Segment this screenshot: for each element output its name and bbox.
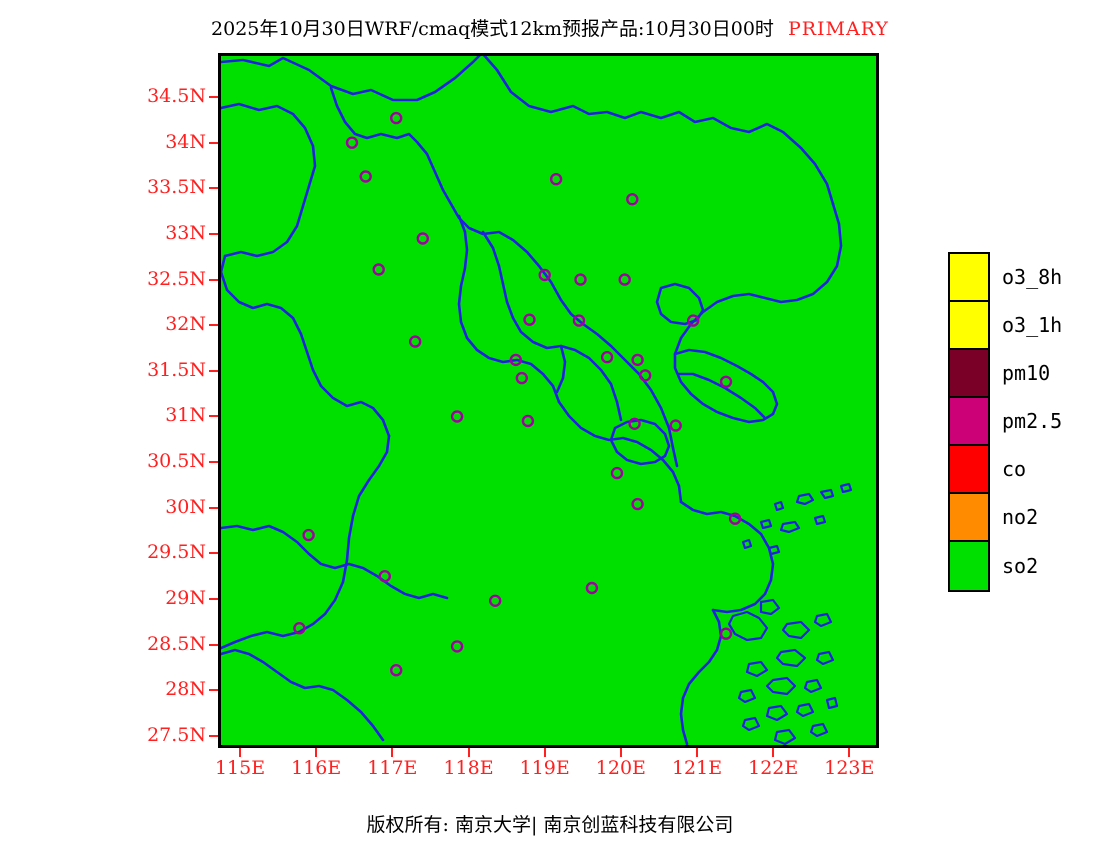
- legend-label: pm2.5: [1002, 409, 1062, 433]
- y-axis-tick: [209, 735, 218, 737]
- y-axis-label: 32N: [0, 313, 206, 335]
- station-marker[interactable]: [361, 172, 371, 182]
- y-axis-label: 32.5N: [0, 268, 206, 290]
- y-axis-label: 29.5N: [0, 541, 206, 563]
- x-axis-label: 118E: [443, 757, 493, 779]
- x-axis-label: 123E: [824, 757, 874, 779]
- station-marker[interactable]: [587, 583, 597, 593]
- station-marker[interactable]: [304, 530, 314, 540]
- y-axis-tick: [209, 461, 218, 463]
- x-axis-tick: [696, 748, 698, 757]
- y-axis-tick: [209, 279, 218, 281]
- station-marker[interactable]: [620, 275, 630, 285]
- legend-label: no2: [1002, 505, 1038, 529]
- y-axis-tick: [209, 233, 218, 235]
- station-marker[interactable]: [418, 234, 428, 244]
- station-markers: [294, 113, 740, 675]
- y-axis-tick: [209, 552, 218, 554]
- station-marker[interactable]: [640, 370, 650, 380]
- station-marker[interactable]: [391, 113, 401, 123]
- map-graphic: [221, 56, 876, 745]
- forecast-map-page: 2025年10月30日WRF/cmaq模式12km预报产品:10月30日00时P…: [0, 0, 1100, 850]
- legend-swatch-o3-1h[interactable]: o3_1h: [950, 302, 988, 350]
- page-title-primary-badge: PRIMARY: [788, 18, 889, 40]
- station-marker[interactable]: [347, 138, 357, 148]
- station-marker[interactable]: [410, 337, 420, 347]
- station-marker[interactable]: [523, 416, 533, 426]
- y-axis-tick: [209, 598, 218, 600]
- copyright-footer: 版权所有: 南京大学| 南京创蓝科技有限公司: [0, 810, 1100, 837]
- station-marker[interactable]: [633, 499, 643, 509]
- y-axis-label: 34.5N: [0, 85, 206, 107]
- legend-label: o3_8h: [1002, 265, 1062, 289]
- station-marker[interactable]: [525, 315, 535, 325]
- y-axis-label: 29N: [0, 587, 206, 609]
- y-axis-label: 33.5N: [0, 176, 206, 198]
- y-axis-tick: [209, 644, 218, 646]
- station-marker[interactable]: [551, 174, 561, 184]
- station-marker[interactable]: [452, 641, 462, 651]
- station-marker[interactable]: [602, 352, 612, 362]
- y-axis-label: 31N: [0, 404, 206, 426]
- legend-swatch-so2[interactable]: so2: [950, 542, 988, 590]
- y-axis-tick: [209, 415, 218, 417]
- x-axis-label: 119E: [520, 757, 570, 779]
- y-axis-tick: [209, 324, 218, 326]
- y-axis-tick: [209, 370, 218, 372]
- station-marker[interactable]: [633, 355, 643, 365]
- x-axis-label: 121E: [672, 757, 722, 779]
- legend-swatch-no2[interactable]: no2: [950, 494, 988, 542]
- y-axis-tick: [209, 507, 218, 509]
- x-axis-label: 120E: [596, 757, 646, 779]
- page-title-main: 2025年10月30日WRF/cmaq模式12km预报产品:10月30日00时: [211, 18, 774, 40]
- station-marker[interactable]: [490, 596, 500, 606]
- station-marker[interactable]: [721, 629, 731, 639]
- legend-swatch-pm2-5[interactable]: pm2.5: [950, 398, 988, 446]
- x-axis-tick: [848, 748, 850, 757]
- y-axis-tick: [209, 187, 218, 189]
- map-plot-area[interactable]: [218, 53, 879, 748]
- y-axis-label: 28.5N: [0, 633, 206, 655]
- x-axis-label: 117E: [367, 757, 417, 779]
- y-axis-tick: [209, 689, 218, 691]
- station-marker[interactable]: [517, 373, 527, 383]
- y-axis-label: 31.5N: [0, 359, 206, 381]
- x-axis-tick: [315, 748, 317, 757]
- y-axis-label: 28N: [0, 678, 206, 700]
- legend-label: pm10: [1002, 361, 1050, 385]
- page-title: 2025年10月30日WRF/cmaq模式12km预报产品:10月30日00时P…: [0, 14, 1100, 41]
- legend-swatch-co[interactable]: co: [950, 446, 988, 494]
- station-marker[interactable]: [391, 665, 401, 675]
- pollutant-legend: o3_8ho3_1hpm10pm2.5cono2so2: [948, 252, 990, 592]
- y-axis-label: 30.5N: [0, 450, 206, 472]
- y-axis-label: 33N: [0, 222, 206, 244]
- station-marker[interactable]: [374, 265, 384, 275]
- x-axis-tick: [620, 748, 622, 757]
- legend-label: co: [1002, 457, 1026, 481]
- x-axis-label: 122E: [748, 757, 798, 779]
- x-axis-tick: [239, 748, 241, 757]
- station-marker[interactable]: [380, 571, 390, 581]
- y-axis-label: 30N: [0, 496, 206, 518]
- y-axis-tick: [209, 142, 218, 144]
- station-marker[interactable]: [452, 412, 462, 422]
- station-marker[interactable]: [721, 377, 731, 387]
- x-axis-tick: [544, 748, 546, 757]
- station-marker[interactable]: [671, 421, 681, 431]
- x-axis-label: 116E: [291, 757, 341, 779]
- legend-label: o3_1h: [1002, 313, 1062, 337]
- legend-swatch-o3-8h[interactable]: o3_8h: [950, 254, 988, 302]
- station-marker[interactable]: [627, 194, 637, 204]
- station-marker[interactable]: [576, 275, 586, 285]
- x-axis-tick: [468, 748, 470, 757]
- x-axis-tick: [772, 748, 774, 757]
- y-axis-label: 27.5N: [0, 724, 206, 746]
- legend-label: so2: [1002, 554, 1038, 578]
- legend-swatch-pm10[interactable]: pm10: [950, 350, 988, 398]
- y-axis-label: 34N: [0, 131, 206, 153]
- y-axis-tick: [209, 96, 218, 98]
- x-axis-tick: [391, 748, 393, 757]
- x-axis-label: 115E: [215, 757, 265, 779]
- station-marker[interactable]: [612, 468, 622, 478]
